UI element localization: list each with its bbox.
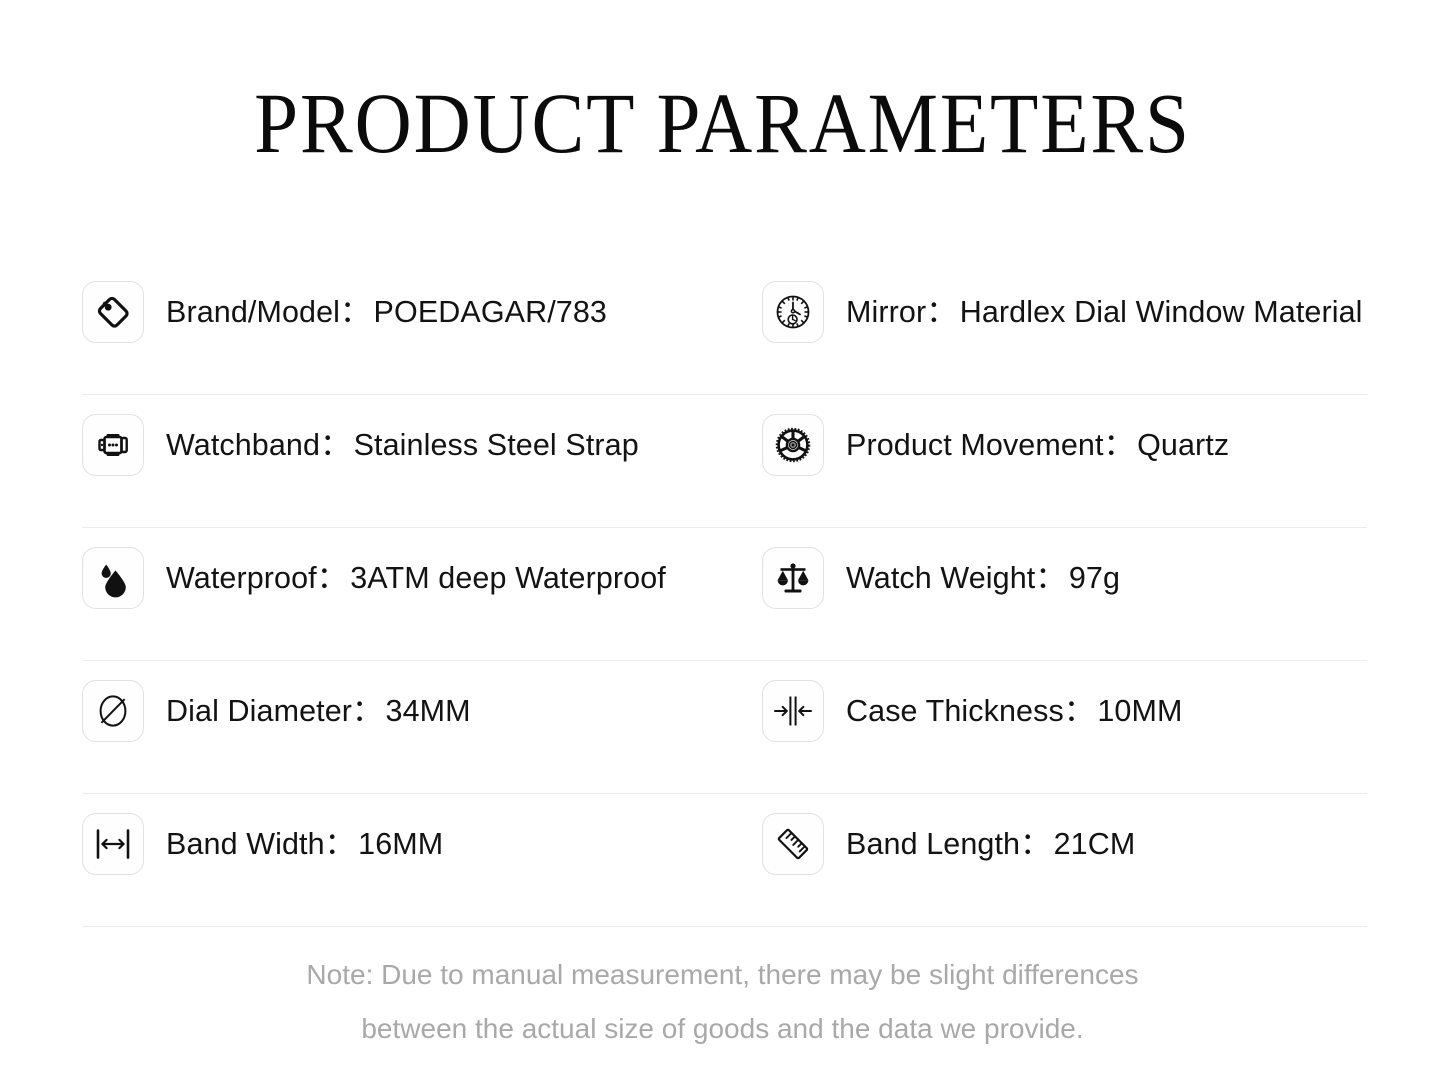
watch-band-clasp-icon bbox=[82, 414, 144, 476]
spec-value: Hardlex Dial Window Material bbox=[960, 295, 1363, 329]
spec-text: Band Length21CM bbox=[846, 826, 1135, 863]
table-row: WatchbandStainless Steel Strap bbox=[82, 395, 1367, 528]
table-row: Waterproof3ATM deep Waterproof bbox=[82, 528, 1367, 661]
spec-label: Dial Diameter bbox=[166, 694, 382, 728]
spec-text: Band Width16MM bbox=[166, 826, 443, 863]
price-tag-icon bbox=[82, 281, 144, 343]
spec-label: Watchband bbox=[166, 428, 350, 462]
spec-text: WatchbandStainless Steel Strap bbox=[166, 427, 639, 464]
spec-item-band-width: Band Width16MM bbox=[82, 794, 762, 894]
spec-label: Watch Weight bbox=[846, 561, 1065, 595]
spec-value: 10MM bbox=[1097, 694, 1182, 728]
spec-value: POEDAGAR/783 bbox=[374, 295, 607, 329]
spec-label: Mirror bbox=[846, 295, 956, 329]
spec-text: Brand/ModelPOEDAGAR/783 bbox=[166, 294, 607, 331]
spec-label: Brand/Model bbox=[166, 295, 370, 329]
spec-value: Stainless Steel Strap bbox=[354, 428, 639, 462]
spec-item-band-length: Band Length21CM bbox=[762, 794, 1367, 894]
table-row: Dial Diameter34MM bbox=[82, 661, 1367, 794]
spec-text: MirrorHardlex Dial Window Material bbox=[846, 294, 1363, 331]
table-row: Band Width16MM bbox=[82, 794, 1367, 927]
spec-item-weight: Watch Weight97g bbox=[762, 528, 1367, 628]
table-row: Brand/ModelPOEDAGAR/783 bbox=[82, 262, 1367, 395]
spec-text: Watch Weight97g bbox=[846, 560, 1120, 597]
watch-dial-clock-icon bbox=[762, 281, 824, 343]
spec-value: Quartz bbox=[1137, 428, 1229, 462]
spec-value: 16MM bbox=[358, 827, 443, 861]
gear-movement-icon bbox=[762, 414, 824, 476]
thickness-arrows-icon bbox=[762, 680, 824, 742]
spec-text: Product MovementQuartz bbox=[846, 427, 1229, 464]
spec-value: 21CM bbox=[1054, 827, 1136, 861]
spec-label: Case Thickness bbox=[846, 694, 1093, 728]
spec-item-watchband: WatchbandStainless Steel Strap bbox=[82, 395, 762, 495]
spec-label: Product Movement bbox=[846, 428, 1133, 462]
spec-value: 97g bbox=[1069, 561, 1120, 595]
ruler-icon bbox=[762, 813, 824, 875]
note-line-1: Note: Due to manual measurement, there m… bbox=[0, 948, 1445, 1002]
note-line-2: between the actual size of goods and the… bbox=[0, 1002, 1445, 1056]
diameter-symbol-icon bbox=[82, 680, 144, 742]
spec-item-waterproof: Waterproof3ATM deep Waterproof bbox=[82, 528, 762, 628]
spec-label: Waterproof bbox=[166, 561, 346, 595]
water-drops-icon bbox=[82, 547, 144, 609]
spec-item-case-thickness: Case Thickness10MM bbox=[762, 661, 1367, 761]
spec-label: Band Width bbox=[166, 827, 354, 861]
spec-label: Band Length bbox=[846, 827, 1050, 861]
spec-value: 34MM bbox=[386, 694, 471, 728]
spec-text: Waterproof3ATM deep Waterproof bbox=[166, 560, 666, 597]
page-title: PRODUCT PARAMETERS bbox=[58, 78, 1387, 168]
measurement-note: Note: Due to manual measurement, there m… bbox=[0, 948, 1445, 1056]
spec-item-brand-model: Brand/ModelPOEDAGAR/783 bbox=[82, 262, 762, 362]
width-measure-icon bbox=[82, 813, 144, 875]
balance-scale-icon bbox=[762, 547, 824, 609]
spec-text: Dial Diameter34MM bbox=[166, 693, 471, 730]
spec-item-dial-diameter: Dial Diameter34MM bbox=[82, 661, 762, 761]
spec-value: 3ATM deep Waterproof bbox=[350, 561, 666, 595]
product-parameters-page: PRODUCT PARAMETERS Brand/ModelPOEDAGAR/7… bbox=[0, 0, 1445, 1084]
spec-item-movement: Product MovementQuartz bbox=[762, 395, 1367, 495]
spec-text: Case Thickness10MM bbox=[846, 693, 1182, 730]
spec-item-mirror: MirrorHardlex Dial Window Material bbox=[762, 262, 1367, 362]
spec-table: Brand/ModelPOEDAGAR/783 bbox=[82, 262, 1367, 927]
